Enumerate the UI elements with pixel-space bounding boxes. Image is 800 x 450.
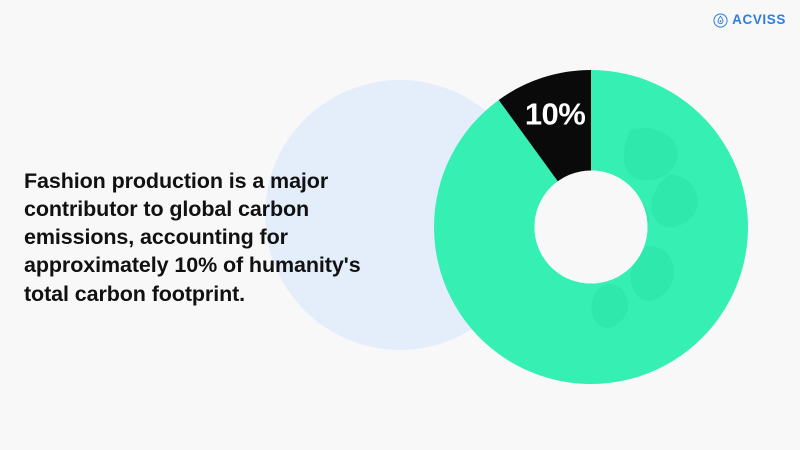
headline-line: contributor to global carbon — [24, 195, 424, 223]
acviss-droplet-icon — [713, 13, 728, 28]
slice-value-label: 10% — [525, 97, 586, 132]
donut-chart-svg: 10% — [434, 70, 748, 384]
headline-line: approximately 10% of humanity's — [24, 251, 424, 279]
infographic-slide: ACVISS Fashion production is a major con… — [0, 0, 800, 450]
headline-text: Fashion production is a major contributo… — [24, 167, 424, 308]
brand-name: ACVISS — [732, 13, 786, 27]
donut-center-hole — [534, 170, 647, 283]
headline-line: Fashion production is a major — [24, 167, 424, 195]
headline-line: emissions, accounting for — [24, 223, 424, 251]
headline-line: total carbon footprint. — [24, 280, 424, 308]
carbon-footprint-donut-chart: 10% — [434, 70, 748, 384]
brand-logo: ACVISS — [713, 10, 786, 30]
